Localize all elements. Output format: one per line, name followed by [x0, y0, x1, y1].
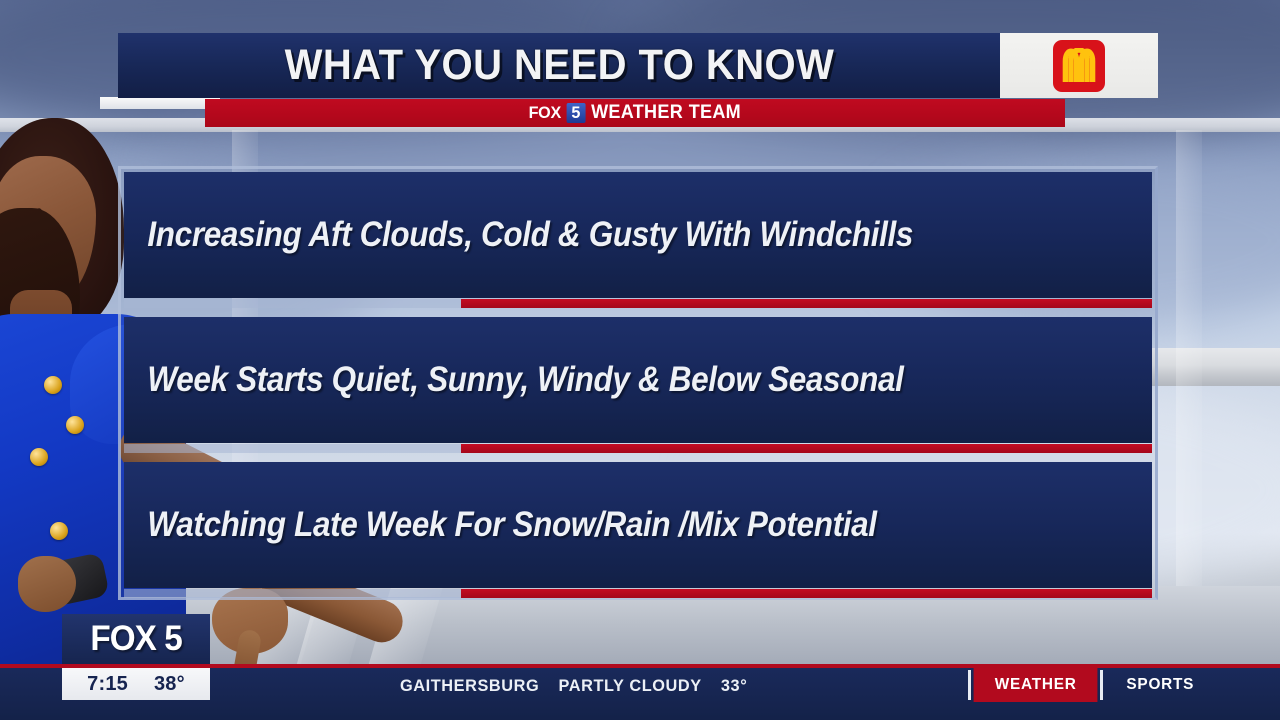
bullet-accent-red — [461, 299, 1152, 308]
header-shelf — [100, 97, 220, 109]
current-temperature: 38° — [154, 673, 185, 696]
dress-button — [44, 376, 62, 394]
clock-time: 7:15 — [87, 673, 128, 696]
bullet-accent-red — [461, 444, 1152, 453]
headline-bar: WHAT YOU NEED TO KNOW — [118, 33, 1000, 98]
bullet-accent-left — [124, 299, 461, 308]
bullet-row[interactable]: Week Starts Quiet, Sunny, Windy & Below … — [124, 317, 1152, 453]
tab-separator — [968, 670, 971, 700]
dress-button — [66, 416, 84, 434]
time-temp-strip: 7:15 38° — [62, 668, 210, 700]
bullet-row[interactable]: Watching Late Week For Snow/Rain /Mix Po… — [124, 462, 1152, 599]
bullet-plate: Watching Late Week For Snow/Rain /Mix Po… — [124, 462, 1152, 588]
fox-wordmark: FOX — [529, 103, 561, 123]
fox-five-badge: 5 — [567, 103, 586, 123]
ticker-temperature: 33° — [721, 676, 747, 696]
broadcast-screen: WHAT YOU NEED TO KNOW FOX 5 WEATHER TEAM… — [0, 0, 1280, 720]
bullet-accent-left — [124, 589, 461, 598]
bullet-row[interactable]: Increasing Aft Clouds, Cold & Gusty With… — [124, 172, 1152, 308]
weather-ticker: GAITHERSBURG PARTLY CLOUDY 33° — [400, 672, 747, 700]
weather-team-bar: FOX 5 WEATHER TEAM — [205, 99, 1065, 127]
fox5-logo: FOX 5 — [90, 619, 181, 659]
bullet-text: Week Starts Quiet, Sunny, Windy & Below … — [124, 360, 904, 400]
bullet-accent-left — [124, 444, 461, 453]
station-bug: FOX 5 — [62, 614, 210, 664]
ticker-city: GAITHERSBURG — [400, 676, 539, 696]
tab-separator — [1100, 670, 1103, 700]
dress-button — [50, 522, 68, 540]
weather-team-label: FOX 5 WEATHER TEAM — [529, 102, 741, 124]
ticker-tabs: WEATHER SPORTS — [968, 668, 1218, 702]
bullet-text: Increasing Aft Clouds, Cold & Gusty With… — [124, 215, 913, 255]
ticker-condition: PARTLY CLOUDY — [558, 676, 701, 696]
dress-button — [30, 448, 48, 466]
weather-word: WEATHER — [591, 102, 683, 124]
bullet-panel-group: Increasing Aft Clouds, Cold & Gusty With… — [118, 166, 1158, 600]
bullet-text: Watching Late Week For Snow/Rain /Mix Po… — [124, 505, 877, 545]
bullet-accent-red — [461, 589, 1152, 598]
mcdonalds-logo-icon — [1053, 40, 1105, 92]
bullet-plate: Week Starts Quiet, Sunny, Windy & Below … — [124, 317, 1152, 443]
tab-weather[interactable]: WEATHER — [974, 668, 1098, 702]
studio-post — [1176, 130, 1202, 600]
sponsor-panel — [1000, 33, 1158, 98]
tab-sports[interactable]: SPORTS — [1106, 668, 1216, 702]
bullet-plate: Increasing Aft Clouds, Cold & Gusty With… — [124, 172, 1152, 298]
page-title: WHAT YOU NEED TO KNOW — [284, 41, 834, 90]
team-word: TEAM — [689, 102, 741, 124]
